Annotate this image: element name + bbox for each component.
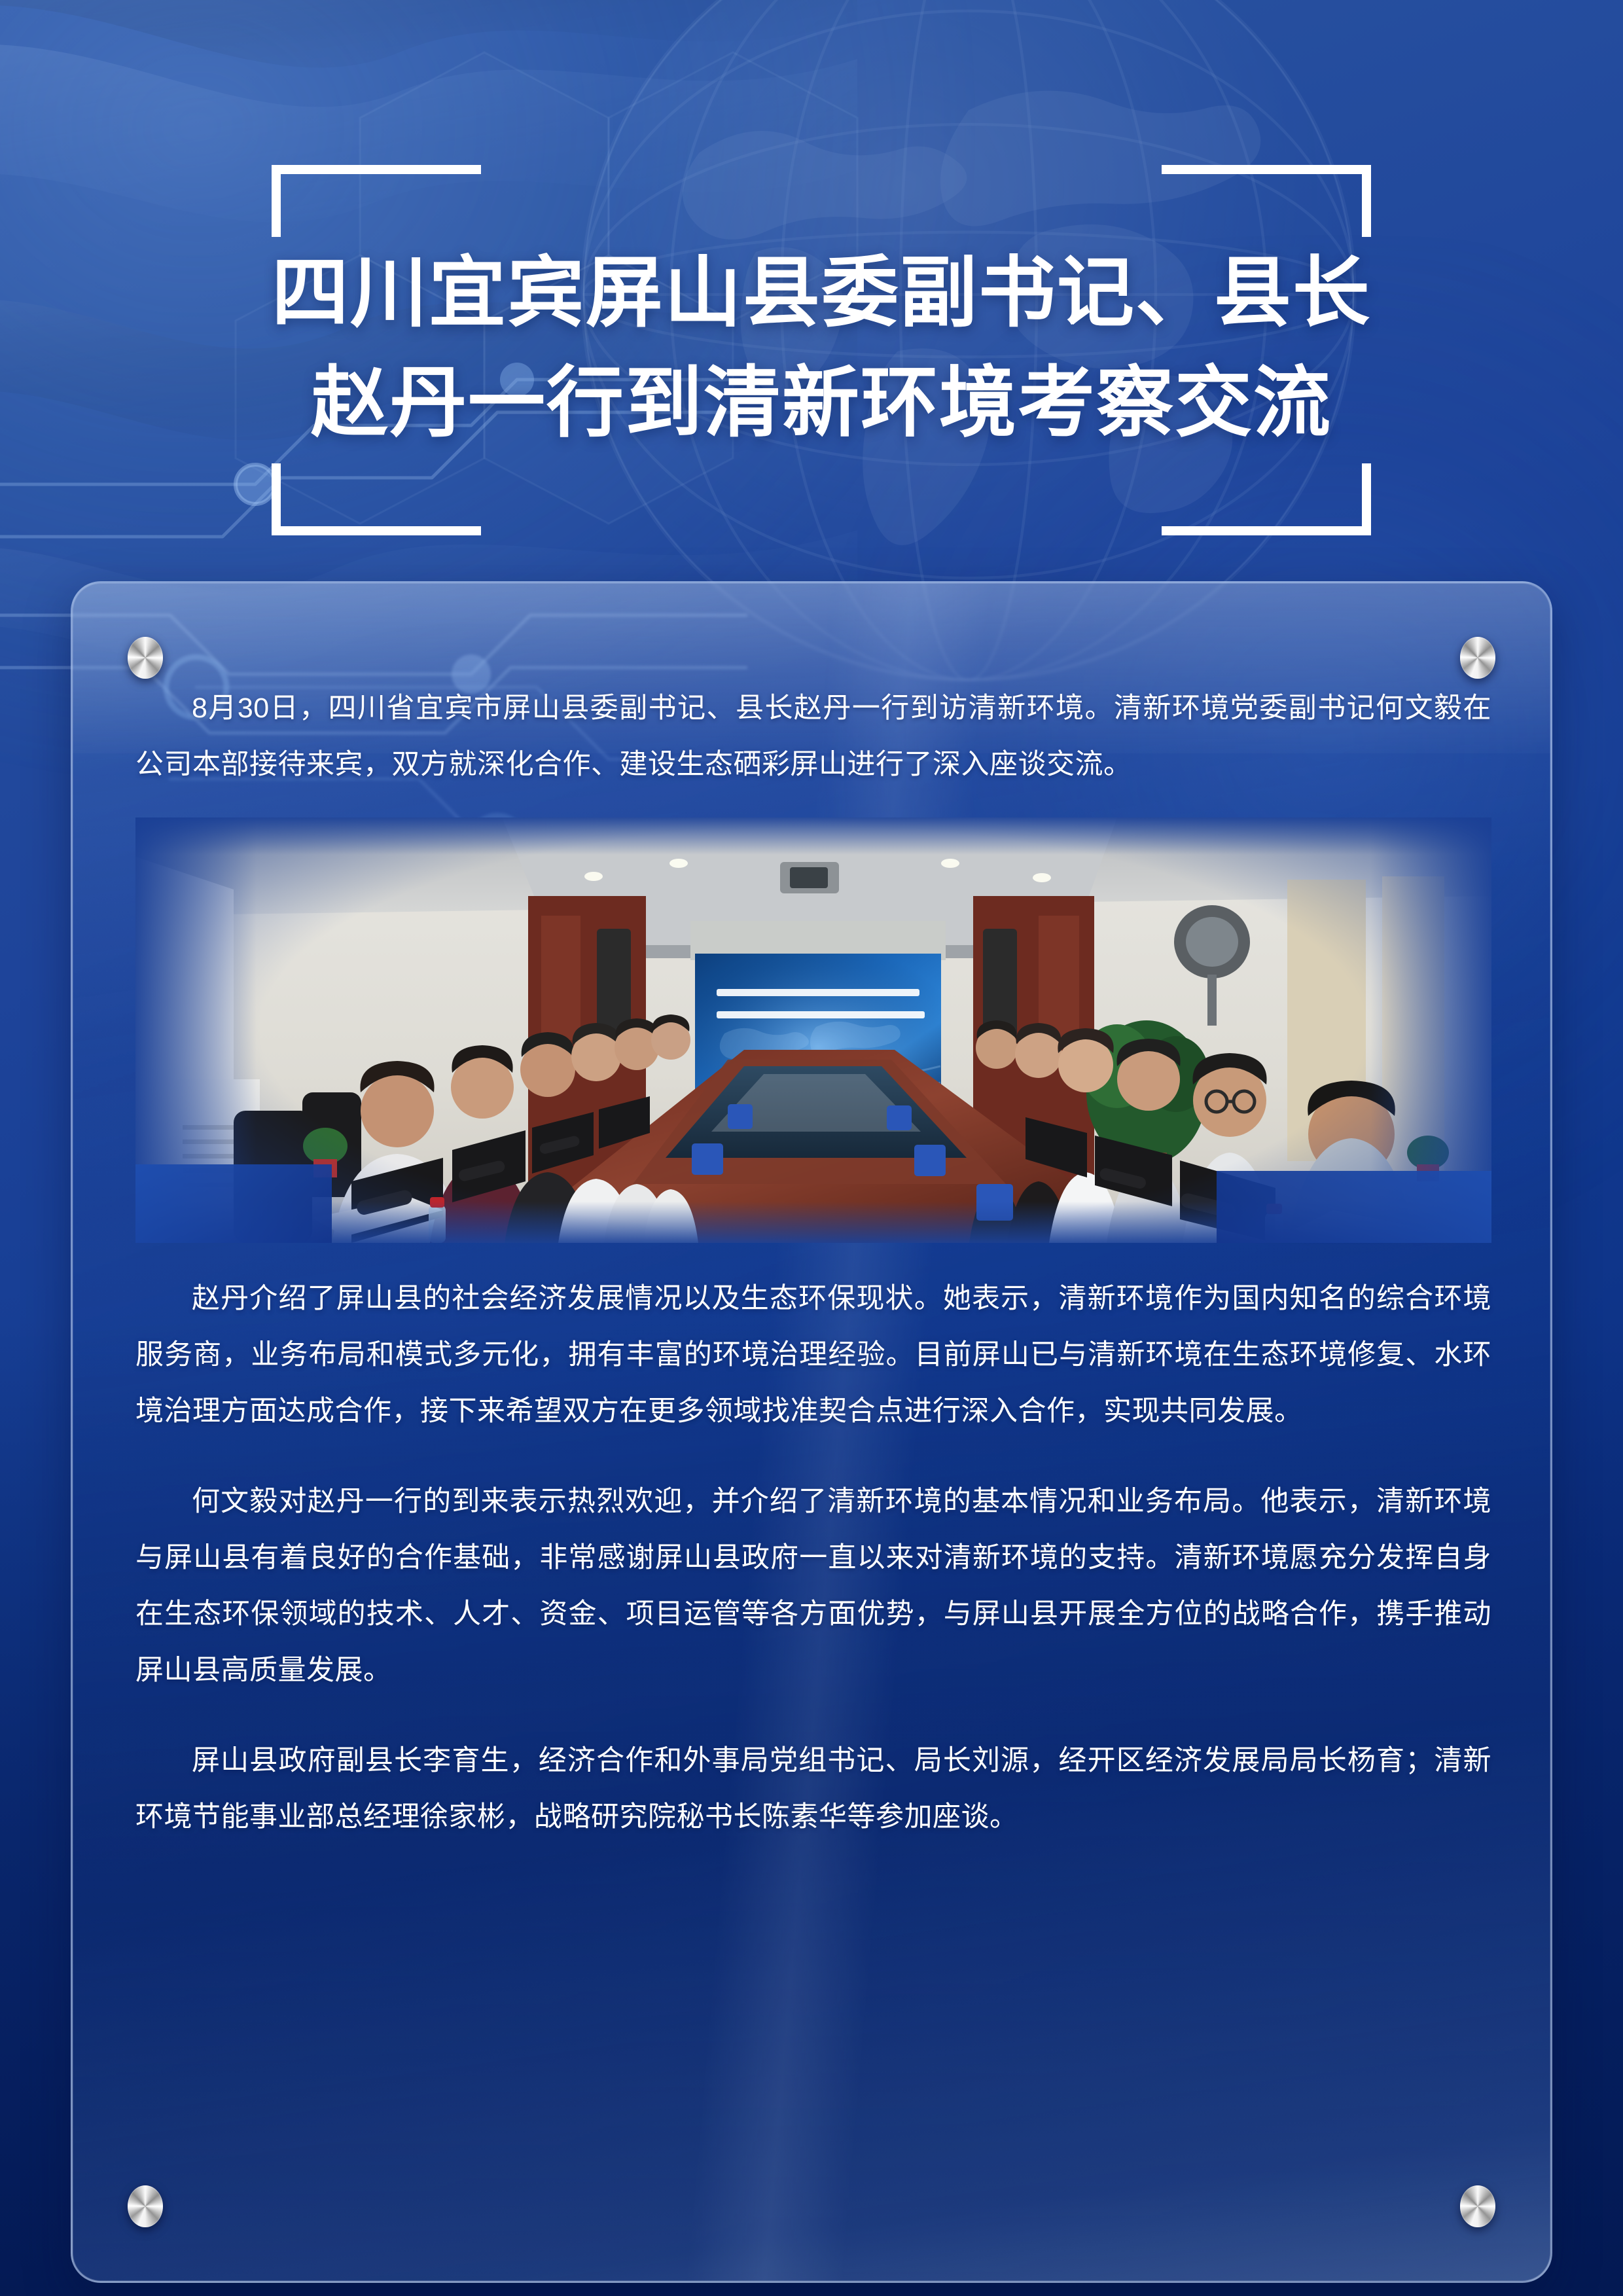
bracket-bottom-left-icon	[272, 463, 481, 535]
page-title-line-1: 四川宜宾屏山县委副书记、县长	[272, 238, 1371, 348]
screw-bottom-right-icon	[1460, 2185, 1495, 2227]
meeting-photo	[135, 817, 1491, 1243]
photo-corner-overlay-left	[135, 1164, 332, 1243]
page-title: 四川宜宾屏山县委副书记、县长 赵丹一行到清新环境考察交流	[272, 238, 1371, 458]
bracket-bottom-right-icon	[1162, 463, 1371, 535]
page-title-line-2: 赵丹一行到清新环境考察交流	[272, 348, 1371, 458]
bracket-top-left-icon	[272, 165, 481, 237]
article-paragraph-1: 8月30日，四川省宜宾市屏山县委副书记、县长赵丹一行到访清新环境。清新环境党委副…	[135, 680, 1491, 793]
screw-top-right-icon	[1460, 637, 1495, 679]
article-body: 8月30日，四川省宜宾市屏山县委副书记、县长赵丹一行到访清新环境。清新环境党委副…	[135, 680, 1491, 1867]
title-block: 四川宜宾屏山县委副书记、县长 赵丹一行到清新环境考察交流	[272, 165, 1371, 535]
bracket-top-right-icon	[1162, 165, 1371, 237]
article-paragraph-4: 屏山县政府副县长李育生，经济合作和外事局党组书记、局长刘源，经开区经济发展局局长…	[135, 1732, 1491, 1845]
article-card: 8月30日，四川省宜宾市屏山县委副书记、县长赵丹一行到访清新环境。清新环境党委副…	[71, 581, 1552, 2283]
screw-bottom-left-icon	[128, 2185, 163, 2227]
article-paragraph-3: 何文毅对赵丹一行的到来表示热烈欢迎，并介绍了清新环境的基本情况和业务布局。他表示…	[135, 1473, 1491, 1698]
screw-top-left-icon	[128, 637, 163, 679]
photo-corner-overlay-right	[1217, 1171, 1491, 1243]
article-paragraph-2: 赵丹介绍了屏山县的社会经济发展情况以及生态环保现状。她表示，清新环境作为国内知名…	[135, 1270, 1491, 1439]
poster-root: 四川宜宾屏山县委副书记、县长 赵丹一行到清新环境考察交流 8月30日，四川省宜宾…	[0, 0, 1623, 2296]
